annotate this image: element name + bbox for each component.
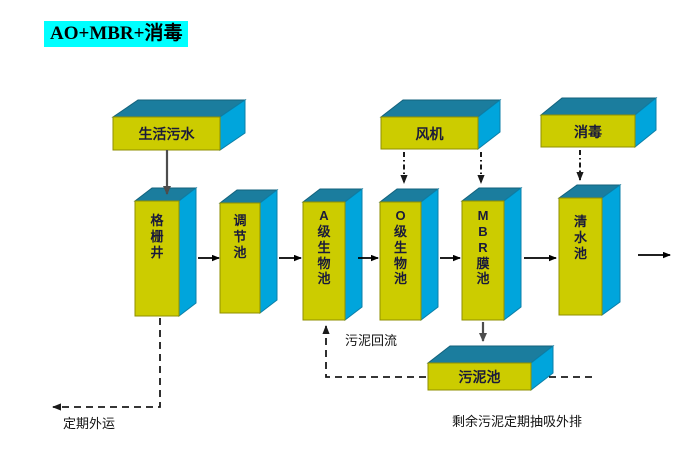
box-sludge-tank[interactable] — [428, 346, 553, 390]
box-equalize[interactable] — [220, 190, 277, 313]
label-excess-sludge: 剩余污泥定期抽吸外排 — [452, 411, 582, 430]
box-o-stage[interactable] — [380, 189, 438, 320]
flow-canvas — [0, 0, 700, 450]
box-blower[interactable] — [381, 100, 500, 149]
box-inlet[interactable] — [113, 100, 245, 150]
box-clearwater[interactable] — [559, 185, 620, 315]
box-grid-well[interactable] — [135, 188, 196, 316]
label-sludge-return: 污泥回流 — [345, 330, 397, 349]
box-a-stage[interactable] — [303, 189, 362, 320]
process-flow-diagram: AO+MBR+消毒 — [0, 0, 700, 450]
label-periodic-transport: 定期外运 — [63, 413, 115, 432]
box-mbr[interactable] — [462, 188, 521, 320]
arrow-grid-well-to-periodic-transport — [53, 318, 160, 407]
box-disinfect[interactable] — [541, 98, 656, 147]
